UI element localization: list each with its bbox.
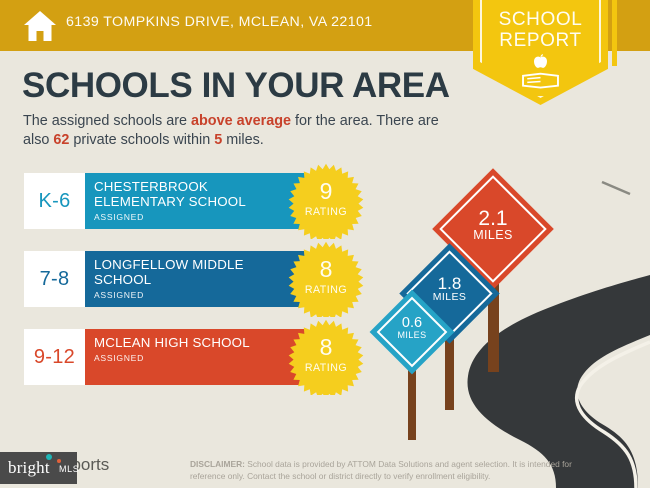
school-assigned-label: ASSIGNED: [94, 353, 306, 363]
school-row[interactable]: 7-8 LONGFELLOW MIDDLE SCHOOL ASSIGNED: [24, 251, 306, 307]
subtitle-highlight-rating: above average: [191, 113, 291, 129]
school-name-bar: CHESTERBROOK ELEMENTARY SCHOOL ASSIGNED: [85, 173, 306, 229]
school-report-badge: SCHOOL REPORT: [473, 0, 608, 105]
school-rating-badge: 9 RATING: [288, 163, 364, 239]
school-assigned-label: ASSIGNED: [94, 290, 306, 300]
rating-label: RATING: [288, 206, 364, 218]
badge-line-report: REPORT: [473, 31, 608, 50]
property-address: 6139 TOMPKINS DRIVE, MCLEAN, VA 22101: [66, 14, 373, 30]
school-row[interactable]: 9-12 MCLEAN HIGH SCHOOL ASSIGNED: [24, 329, 306, 385]
subtitle-part-3: private schools within: [69, 132, 214, 148]
school-name-bar: MCLEAN HIGH SCHOOL ASSIGNED: [85, 329, 306, 385]
subtitle-highlight-count: 62: [53, 132, 69, 148]
page-subtitle: The assigned schools are above average f…: [23, 112, 453, 151]
school-name: LONGFELLOW MIDDLE SCHOOL: [94, 258, 280, 288]
subtitle-part-1: The assigned schools are: [23, 113, 191, 129]
school-grade-range: K-6: [24, 173, 85, 229]
logo-wordmark: bright: [8, 458, 50, 478]
rating-value: 8: [288, 258, 364, 281]
logo-mls-text: MLS: [59, 464, 79, 474]
book-icon: [521, 72, 560, 89]
home-icon: [22, 8, 58, 44]
school-grade-range: 9-12: [24, 329, 85, 385]
school-name: CHESTERBROOK ELEMENTARY SCHOOL: [94, 180, 280, 210]
badge-line-school: SCHOOL: [473, 10, 608, 29]
school-rating-badge: 8 RATING: [288, 241, 364, 317]
school-row[interactable]: K-6 CHESTERBROOK ELEMENTARY SCHOOL ASSIG…: [24, 173, 306, 229]
rating-label: RATING: [288, 284, 364, 296]
school-name-bar: LONGFELLOW MIDDLE SCHOOL ASSIGNED: [85, 251, 306, 307]
subtitle-part-4: miles.: [222, 132, 264, 148]
apple-icon: [531, 53, 550, 72]
road-illustration: 2.1 MILES 1.8 MILES 0.6 MILES: [380, 180, 650, 488]
disclaimer-label: DISCLAIMER:: [190, 459, 245, 469]
school-name: MCLEAN HIGH SCHOOL: [94, 336, 280, 351]
school-report-infographic: 6139 TOMPKINS DRIVE, MCLEAN, VA 22101 SC…: [0, 0, 650, 488]
badge-side-strip: [612, 0, 617, 66]
brightmls-logo[interactable]: bright MLS: [0, 452, 77, 484]
disclaimer-text: DISCLAIMER: School data is provided by A…: [190, 458, 600, 482]
school-grade-range: 7-8: [24, 251, 85, 307]
school-assigned-label: ASSIGNED: [94, 212, 306, 222]
school-rating-badge: 8 RATING: [288, 319, 364, 395]
logo-orange-dot-icon: [57, 459, 61, 463]
disclaimer-body: School data is provided by ATTOM Data So…: [190, 459, 572, 481]
rating-value: 8: [288, 336, 364, 359]
rating-value: 9: [288, 180, 364, 203]
page-title: SCHOOLS IN YOUR AREA: [22, 68, 450, 103]
rating-label: RATING: [288, 362, 364, 374]
logo-teal-dot-icon: [46, 454, 52, 460]
